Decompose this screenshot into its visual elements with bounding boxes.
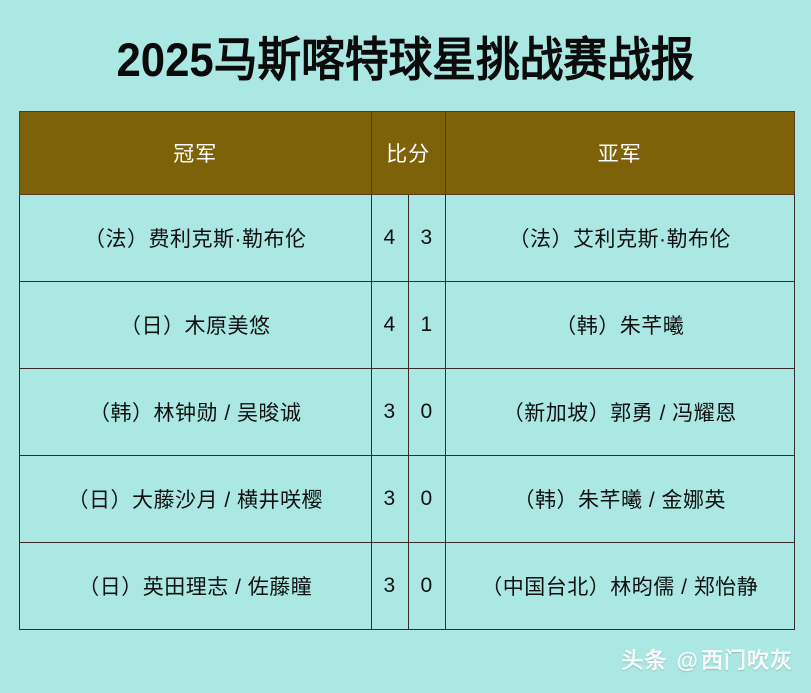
cell-champion: （日）英田理志 / 佐藤瞳 bbox=[20, 543, 372, 630]
cell-runner-up: （韩）朱芊曦 / 金娜英 bbox=[445, 456, 794, 543]
page-title: 2025马斯喀特球星挑战赛战报 bbox=[28, 30, 782, 90]
table-header: 冠军 比分 亚军 bbox=[20, 112, 795, 195]
cell-champion: （韩）林钟勋 / 吴晙诚 bbox=[20, 369, 372, 456]
cell-score-champion: 4 bbox=[371, 195, 408, 282]
cell-champion: （日）大藤沙月 / 横井咲樱 bbox=[20, 456, 372, 543]
report-page: 2025马斯喀特球星挑战赛战报 冠军 比分 亚军 （法）费利克斯·勒布伦 4 3… bbox=[0, 0, 811, 693]
results-table: 冠军 比分 亚军 （法）费利克斯·勒布伦 4 3 （法）艾利克斯·勒布伦 （日）… bbox=[19, 111, 795, 630]
watermark-platform: 头条 bbox=[621, 648, 667, 673]
column-header-score: 比分 bbox=[371, 112, 445, 195]
table-row: （日）大藤沙月 / 横井咲樱 3 0 （韩）朱芊曦 / 金娜英 bbox=[20, 456, 795, 543]
column-header-runner-up: 亚军 bbox=[445, 112, 794, 195]
cell-score-runner-up: 0 bbox=[408, 456, 445, 543]
cell-runner-up: （新加坡）郭勇 / 冯耀恩 bbox=[445, 369, 794, 456]
table-row: （日）木原美悠 4 1 （韩）朱芊曦 bbox=[20, 282, 795, 369]
cell-score-runner-up: 3 bbox=[408, 195, 445, 282]
table-header-row: 冠军 比分 亚军 bbox=[20, 112, 795, 195]
table-row: （韩）林钟勋 / 吴晙诚 3 0 （新加坡）郭勇 / 冯耀恩 bbox=[20, 369, 795, 456]
watermark-author: 西门吹灰 bbox=[701, 648, 793, 673]
cell-score-champion: 3 bbox=[371, 456, 408, 543]
table-row: （法）费利克斯·勒布伦 4 3 （法）艾利克斯·勒布伦 bbox=[20, 195, 795, 282]
table-row: （日）英田理志 / 佐藤瞳 3 0 （中国台北）林昀儒 / 郑怡静 bbox=[20, 543, 795, 630]
cell-score-runner-up: 0 bbox=[408, 369, 445, 456]
table-body: （法）费利克斯·勒布伦 4 3 （法）艾利克斯·勒布伦 （日）木原美悠 4 1 … bbox=[20, 195, 795, 630]
cell-score-runner-up: 0 bbox=[408, 543, 445, 630]
cell-score-champion: 3 bbox=[371, 369, 408, 456]
watermark-at-symbol: @ bbox=[675, 648, 701, 673]
cell-runner-up: （法）艾利克斯·勒布伦 bbox=[445, 195, 794, 282]
cell-runner-up: （韩）朱芊曦 bbox=[445, 282, 794, 369]
watermark: 头条 @西门吹灰 bbox=[621, 643, 793, 675]
cell-runner-up: （中国台北）林昀儒 / 郑怡静 bbox=[445, 543, 794, 630]
column-header-champion: 冠军 bbox=[20, 112, 372, 195]
cell-score-champion: 3 bbox=[371, 543, 408, 630]
cell-score-champion: 4 bbox=[371, 282, 408, 369]
cell-champion: （法）费利克斯·勒布伦 bbox=[20, 195, 372, 282]
cell-champion: （日）木原美悠 bbox=[20, 282, 372, 369]
cell-score-runner-up: 1 bbox=[408, 282, 445, 369]
